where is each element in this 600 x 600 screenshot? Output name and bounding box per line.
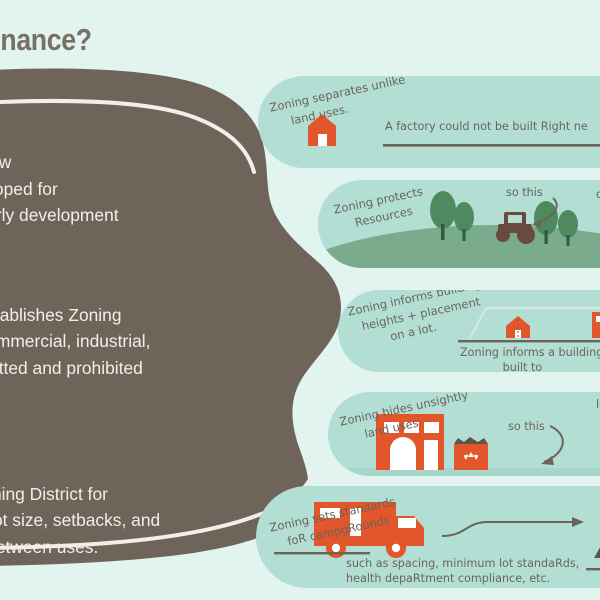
body-paragraph: Map that establishes Zoning sidential, c…	[0, 302, 334, 408]
pill-3-note: Zoning informs a building built to	[460, 346, 600, 372]
building-icon	[592, 312, 600, 338]
pill-2-note-b: doe	[596, 188, 600, 201]
squiggle-arrow-icon	[442, 517, 584, 536]
hill-icon	[318, 225, 600, 268]
pill-campgrounds[interactable]: Zoning sets standards foR campgRounds su…	[256, 486, 600, 588]
pill-2-note-a: so this	[506, 186, 543, 199]
pill-1-note: A factory could not be built Right ne	[385, 120, 588, 133]
grade-line-icon	[458, 340, 600, 342]
tent-icon	[594, 526, 600, 558]
pill-protects-resources[interactable]: Zoning protects Resources so this doe	[318, 180, 600, 268]
dumpster-recycle-icon	[454, 437, 488, 470]
infographic-canvas: ng Ordinance? egulating how d and develo…	[0, 0, 600, 600]
pill-hides-unsightly[interactable]: Zoning hides unsightly land uses so this…	[328, 392, 600, 476]
pill-5-note: such as spacing, minimum lot standaRds, …	[346, 556, 579, 586]
pill-building-heights[interactable]: Zoning informs building heights + placem…	[338, 290, 600, 372]
pill-4-note-a: so this	[508, 420, 545, 433]
pill-separates-uses[interactable]: Zoning separates unlike land uses. A fac…	[258, 76, 600, 168]
pill-4-note-b: lo	[596, 398, 600, 411]
page-title: ng Ordinance?	[0, 22, 92, 58]
